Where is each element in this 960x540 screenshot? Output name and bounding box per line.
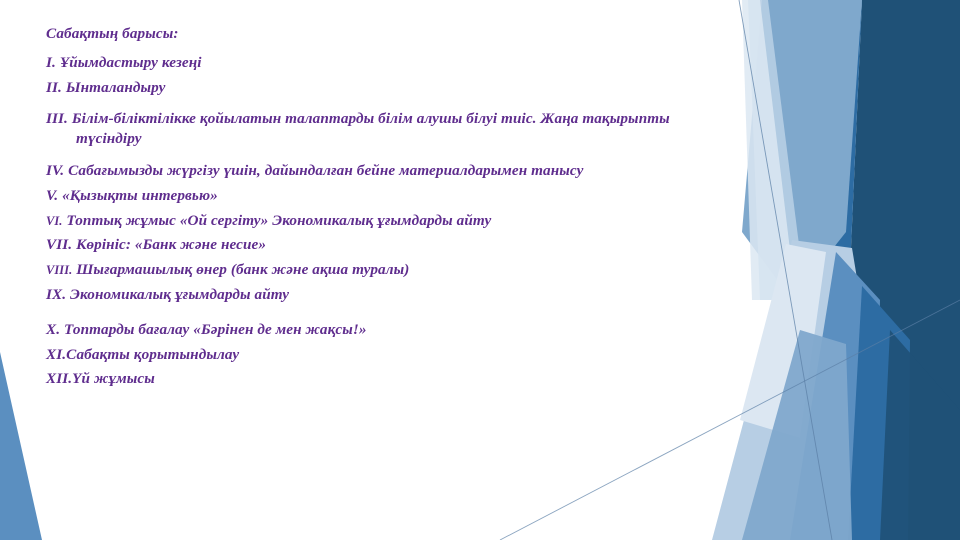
list-item-numeral: X.	[46, 321, 60, 338]
list-item-numeral: VI.	[46, 214, 62, 228]
list-item-label: Ұйымдастыру кезеңі	[60, 54, 202, 71]
list-item-numeral: III.	[46, 110, 68, 127]
list-item-label: Сабақты қорытындылау	[66, 346, 239, 363]
list-item-5: V. «Қызықты интервью»	[46, 188, 736, 203]
bg-shape-foreground-facet	[742, 330, 852, 540]
bg-shape-light-band-lower	[712, 240, 900, 540]
list-item-label: Экономикалық ұғымдарды айту	[70, 286, 289, 303]
list-item-3: III. Білім-біліктілікке қойылатын талапт…	[46, 109, 736, 149]
list-item-numeral: II.	[46, 79, 62, 96]
slide-title: Сабақтың барысы:	[46, 26, 736, 41]
list-item-label: Топтық жұмыс «Ой сергіту» Экономикалық ұ…	[66, 212, 491, 229]
slide-body-text: Сабақтың барысы: I. Ұйымдастыру кезеңі I…	[46, 26, 736, 387]
list-item-label: Үй жұмысы	[72, 370, 155, 387]
bg-shape-steel-wedge	[790, 252, 880, 540]
bg-shape-pale-sliver-top	[742, 0, 796, 300]
list-item-label: Шығармашылық өнер (банк және ақша туралы…	[76, 261, 409, 278]
list-item-12: XII.Үй жұмысы	[46, 371, 736, 386]
list-item-label: «Қызықты интервью»	[62, 187, 218, 204]
bg-shape-left-triangle	[0, 352, 42, 540]
bg-shape-deep-wedge-lower	[848, 286, 910, 540]
list-item-4: IV. Сабағымызды жүргізу үшін, дайындалға…	[46, 163, 736, 178]
list-item-label: Көрініс: «Банк және несие»	[76, 236, 266, 253]
list-item-6: VI. Топтық жұмыс «Ой сергіту» Экономикал…	[46, 213, 736, 228]
list-item-11: XI.Сабақты қорытындылау	[46, 347, 736, 362]
list-item-label: Сабағымызды жүргізу үшін, дайындалған бе…	[68, 162, 583, 179]
list-item-label: Ынталандыру	[66, 79, 166, 96]
list-item-1: I. Ұйымдастыру кезеңі	[46, 55, 736, 70]
list-item-numeral: IX.	[46, 286, 66, 303]
list-item-numeral: V.	[46, 187, 58, 204]
list-item-8: VIII. Шығармашылық өнер (банк және ақша …	[46, 262, 736, 277]
slide-canvas: Сабақтың барысы: I. Ұйымдастыру кезеңі I…	[0, 0, 960, 540]
list-item-7: VII. Көрініс: «Банк және несие»	[46, 237, 736, 252]
hairline-vertical	[739, 0, 832, 540]
bg-shape-medium-field	[742, 0, 862, 300]
bg-shape-dark-right	[838, 0, 960, 540]
list-item-label: Топтарды бағалау «Бәрінен де мен жақсы!»	[64, 321, 367, 338]
bg-shape-pale-wedge-lower	[740, 244, 826, 438]
list-item-numeral: IV.	[46, 162, 64, 179]
bg-shape-dark-facet-bottom	[880, 330, 960, 540]
list-item-numeral: I.	[46, 54, 56, 71]
list-item-numeral: VII.	[46, 236, 72, 253]
bg-shape-deep-wedge	[790, 0, 862, 540]
bg-shape-light-panel-top	[748, 0, 806, 300]
list-item-label: Білім-біліктілікке қойылатын талаптарды …	[72, 110, 670, 147]
list-item-numeral: VIII.	[46, 263, 72, 277]
list-item-numeral: XII.	[46, 370, 72, 387]
list-item-2: II. Ынталандыру	[46, 80, 736, 95]
list-item-numeral: XI.	[46, 346, 66, 363]
list-item-9: IX. Экономикалық ұғымдарды айту	[46, 287, 736, 302]
list-item-10: X. Топтарды бағалау «Бәрінен де мен жақс…	[46, 322, 736, 337]
